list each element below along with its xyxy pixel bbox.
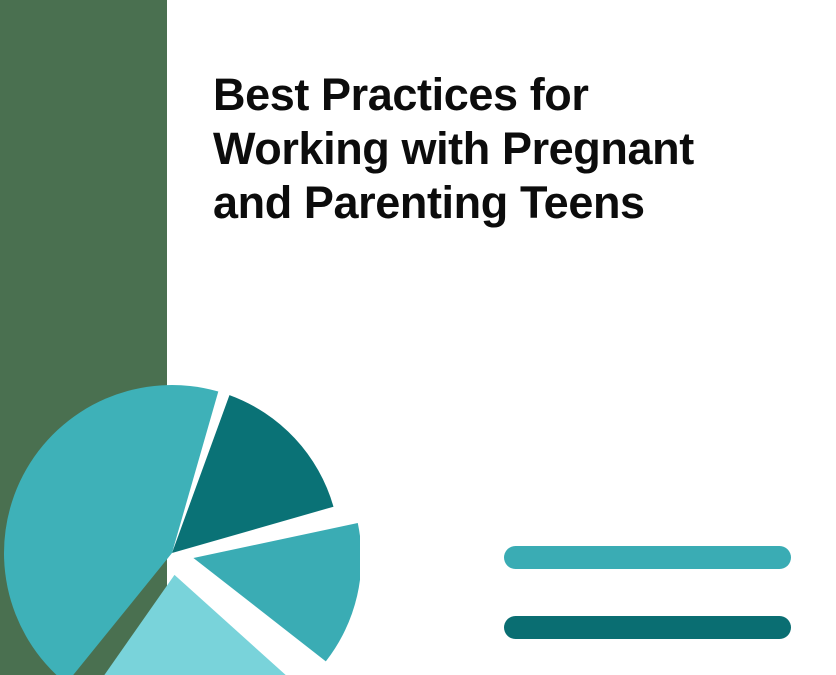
accent-bar-bottom (504, 616, 791, 639)
pie-slices (4, 385, 360, 675)
title-line-1: Best Practices for (213, 68, 793, 122)
slide-canvas: Best Practices for Working with Pregnant… (0, 0, 836, 675)
page-title: Best Practices for Working with Pregnant… (213, 68, 793, 230)
title-line-3: and Parenting Teens (213, 176, 793, 230)
accent-bar-top (504, 546, 791, 569)
title-line-2: Working with Pregnant (213, 122, 793, 176)
accent-bar-group (504, 546, 791, 639)
pie-chart (0, 350, 360, 675)
